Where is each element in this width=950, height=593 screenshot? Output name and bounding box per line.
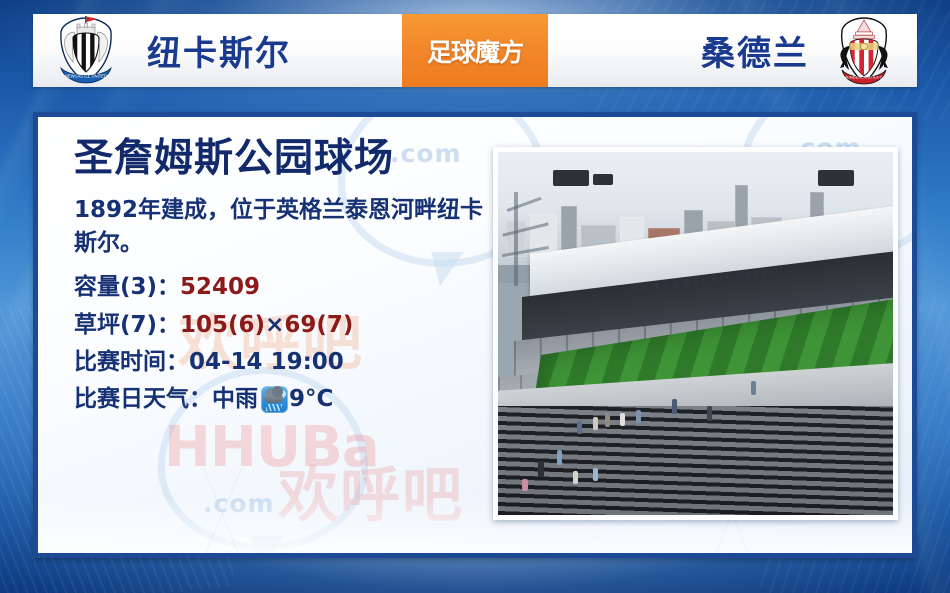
weather-label: 比赛日天气： xyxy=(74,381,212,418)
site-logo[interactable]: 足球魔方 xyxy=(402,14,548,87)
kickoff-label: 比赛时间： xyxy=(74,344,189,381)
sunderland-ribbon-text: SUNDERLAND A.F.C. xyxy=(844,74,883,79)
match-header-bar: NEWCASTLE UNITED 纽卡斯尔 足球魔方 桑德兰 xyxy=(33,14,917,87)
sunderland-afc-crest: SUNDERLAND A.F.C. xyxy=(831,16,897,86)
moderate-rain-icon xyxy=(261,386,288,413)
weather-condition: 中雨 xyxy=(212,381,258,418)
home-team-block[interactable]: NEWCASTLE UNITED 纽卡斯尔 xyxy=(33,14,402,87)
newcastle-united-crest: NEWCASTLE UNITED xyxy=(53,16,119,86)
panel-polygon-effect xyxy=(148,469,298,553)
weather-temperature: 9°C xyxy=(289,381,333,418)
newcastle-ribbon-text: NEWCASTLE UNITED xyxy=(65,73,107,78)
away-team-block[interactable]: 桑德兰 xyxy=(548,14,917,87)
kickoff-value: 04-14 19:00 xyxy=(189,344,344,381)
kickoff-row: 比赛时间： 04-14 19:00 xyxy=(74,344,494,381)
pitch-size-separator: × xyxy=(265,307,284,344)
stadium-title: 圣詹姆斯公园球场 xyxy=(74,139,494,180)
capacity-value: 52409 xyxy=(180,269,260,306)
watermark-chinese: 欢呼吧 xyxy=(278,447,464,534)
stadium-photo-frame[interactable]: NEWCASTLE UNITED xyxy=(493,147,898,520)
app-root: NEWCASTLE UNITED 纽卡斯尔 足球魔方 桑德兰 xyxy=(0,0,950,593)
stadium-photo: NEWCASTLE UNITED xyxy=(498,152,893,515)
stadium-info-panel: .com .com HHUBa .com 欢呼吧 欢呼吧 圣詹姆斯公园球场 18… xyxy=(33,112,917,558)
watermark-huba: HHUBa xyxy=(164,415,379,480)
capacity-label: 容量(3)： xyxy=(74,269,180,306)
stadium-details: 圣詹姆斯公园球场 1892年建成，位于英格兰泰恩河畔纽卡斯尔。 容量(3)： 5… xyxy=(74,139,494,418)
away-team-name: 桑德兰 xyxy=(701,26,809,75)
capacity-row: 容量(3)： 52409 xyxy=(74,269,494,306)
weather-row: 比赛日天气： 中雨 9°C xyxy=(74,381,494,418)
site-logo-text: 足球魔方 xyxy=(427,33,523,69)
pitch-width-value: 69(7) xyxy=(284,307,353,344)
home-team-name: 纽卡斯尔 xyxy=(147,26,291,75)
stadium-description: 1892年建成，位于英格兰泰恩河畔纽卡斯尔。 xyxy=(74,194,494,259)
pitch-length-value: 105(6) xyxy=(180,307,265,344)
watermark-dotcom: .com xyxy=(203,489,275,518)
pitch-size-row: 草坪(7)： 105(6) × 69(7) xyxy=(74,307,494,344)
pitch-size-label: 草坪(7)： xyxy=(74,307,180,344)
